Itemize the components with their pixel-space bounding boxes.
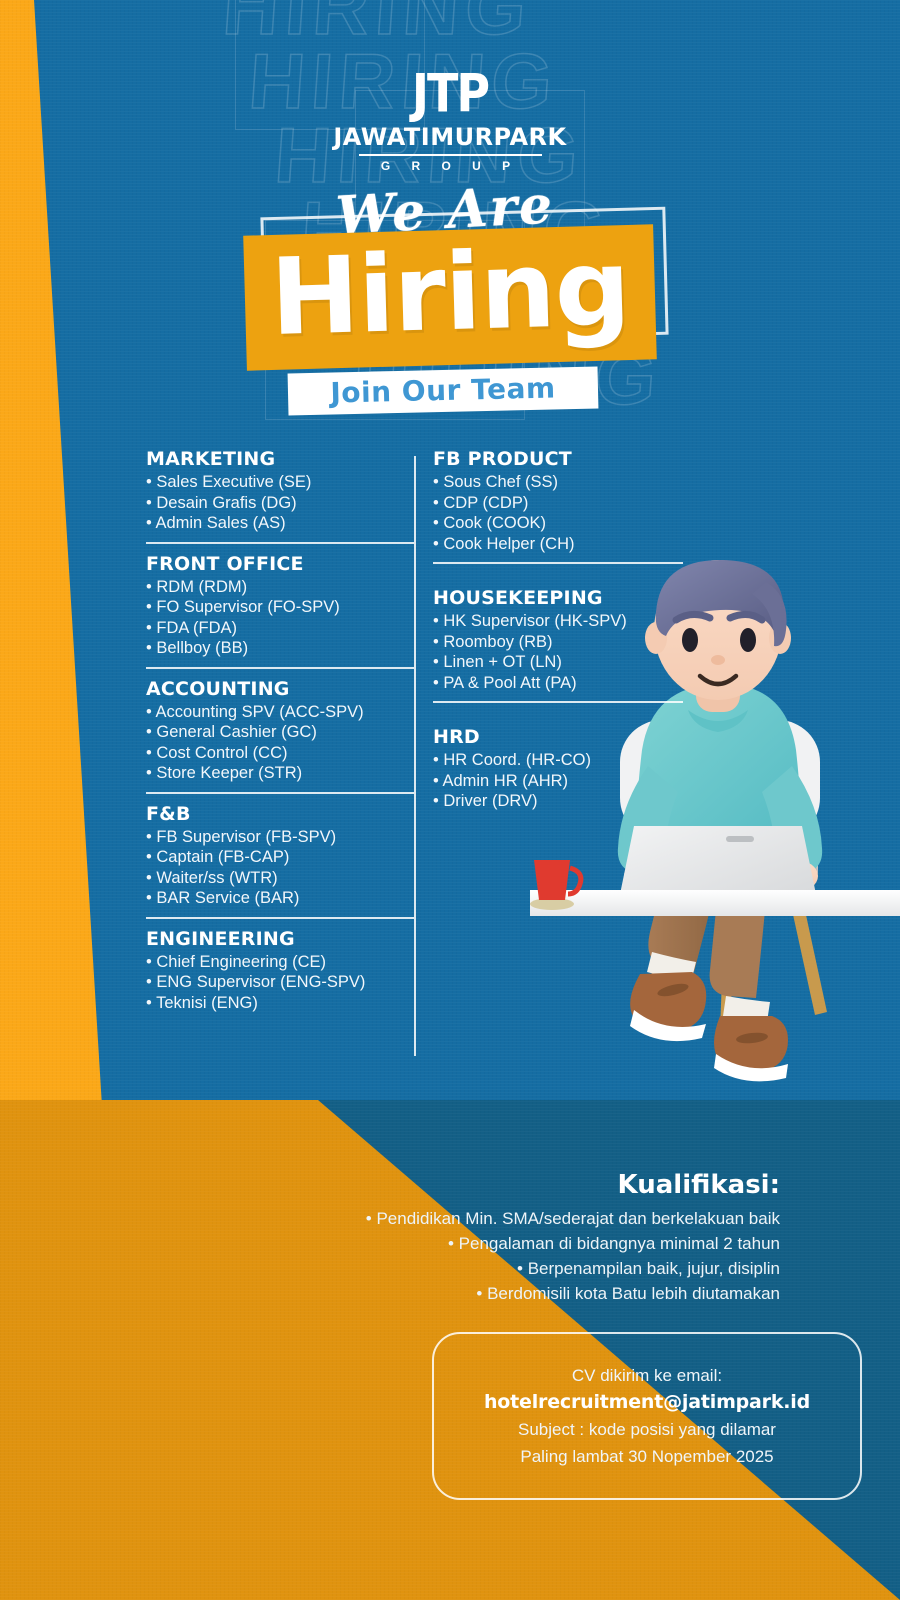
job-position: Roomboy (RB) (433, 632, 683, 653)
job-position: General Cashier (GC) (146, 722, 414, 743)
department-block: HRD HR Coord. (HR-CO) Admin HR (AHR) Dri… (433, 726, 683, 812)
department-title: ENGINEERING (146, 928, 414, 950)
department-title: HOUSEKEEPING (433, 587, 683, 609)
job-position: HK Supervisor (HK-SPV) (433, 611, 683, 632)
job-position: FO Supervisor (FO-SPV) (146, 597, 414, 618)
job-position: RDM (RDM) (146, 577, 414, 598)
qualification-item: Berdomisili kota Batu lebih diutamakan (260, 1281, 780, 1306)
department-title: F&B (146, 803, 414, 825)
job-position: ENG Supervisor (ENG-SPV) (146, 972, 414, 993)
department-block: HOUSEKEEPING HK Supervisor (HK-SPV) Room… (433, 587, 683, 693)
recruitment-poster: HIRING HIRING HIRING HIRING HIRING HIRIN… (0, 0, 900, 1600)
job-position: Linen + OT (LN) (433, 652, 683, 673)
hero-headline: Hiring (0, 215, 900, 370)
section-divider (433, 562, 683, 564)
job-position: Teknisi (ENG) (146, 993, 414, 1014)
qualification-item: Berpenampilan baik, jujur, disiplin (260, 1256, 780, 1281)
job-position: Cook (COOK) (433, 513, 683, 534)
department-block: F&B FB Supervisor (FB-SPV) Captain (FB-C… (146, 803, 414, 909)
jobs-column-right: FB PRODUCT Sous Chef (SS) CDP (CDP) Cook… (433, 448, 683, 818)
department-title: ACCOUNTING (146, 678, 414, 700)
job-position: Sales Executive (SE) (146, 472, 414, 493)
qualification-item: Pendidikan Min. SMA/sederajat dan berkel… (260, 1206, 780, 1231)
qualifications-title: Kualifikasi: (260, 1170, 780, 1200)
section-divider (146, 542, 414, 544)
job-position: Admin Sales (AS) (146, 513, 414, 534)
contact-deadline: Paling lambat 30 Nopember 2025 (520, 1443, 773, 1470)
section-divider (433, 701, 683, 703)
qualifications-section: Kualifikasi: Pendidikan Min. SMA/sederaj… (260, 1170, 780, 1306)
brand-logo: JTP JAWATIMURPARK G R O U P (0, 70, 900, 173)
job-position: Waiter/ss (WTR) (146, 868, 414, 889)
department-title: HRD (433, 726, 683, 748)
department-title: FB PRODUCT (433, 448, 683, 470)
job-position: Driver (DRV) (433, 791, 683, 812)
section-divider (146, 667, 414, 669)
logo-name: JAWATIMURPARK (0, 123, 900, 151)
section-divider (146, 792, 414, 794)
job-position: Chief Engineering (CE) (146, 952, 414, 973)
department-block: ACCOUNTING Accounting SPV (ACC-SPV) Gene… (146, 678, 414, 784)
logo-divider (359, 154, 542, 156)
job-position: Store Keeper (STR) (146, 763, 414, 784)
job-position: Cook Helper (CH) (433, 534, 683, 555)
logo-mark: JTP (412, 67, 488, 120)
job-position: BAR Service (BAR) (146, 888, 414, 909)
job-position: Bellboy (BB) (146, 638, 414, 659)
job-position: CDP (CDP) (433, 493, 683, 514)
job-position: Sous Chef (SS) (433, 472, 683, 493)
job-position: HR Coord. (HR-CO) (433, 750, 683, 771)
job-position: FB Supervisor (FB-SPV) (146, 827, 414, 848)
department-title: FRONT OFFICE (146, 553, 414, 575)
job-position: Desain Grafis (DG) (146, 493, 414, 514)
job-position: Cost Control (CC) (146, 743, 414, 764)
jobs-column-left: MARKETING Sales Executive (SE) Desain Gr… (146, 448, 414, 1019)
job-position: PA & Pool Att (PA) (433, 673, 683, 694)
job-position: Captain (FB-CAP) (146, 847, 414, 868)
section-divider (146, 917, 414, 919)
contact-email[interactable]: hotelrecruitment@jatimpark.id (484, 1389, 810, 1416)
job-position: Accounting SPV (ACC-SPV) (146, 702, 414, 723)
job-position: FDA (FDA) (146, 618, 414, 639)
column-divider (414, 456, 416, 1056)
department-block: ENGINEERING Chief Engineering (CE) ENG S… (146, 928, 414, 1014)
department-block: FRONT OFFICE RDM (RDM) FO Supervisor (FO… (146, 553, 414, 659)
department-block: FB PRODUCT Sous Chef (SS) CDP (CDP) Cook… (433, 448, 683, 554)
hero-subline: Join Our Team (288, 366, 599, 415)
qualification-item: Pengalaman di bidangnya minimal 2 tahun (260, 1231, 780, 1256)
department-block: MARKETING Sales Executive (SE) Desain Gr… (146, 448, 414, 534)
department-title: MARKETING (146, 448, 414, 470)
job-position: Admin HR (AHR) (433, 771, 683, 792)
hero-section: We Are Hiring Join Our Team (0, 180, 900, 241)
contact-subject-note: Subject : kode posisi yang dilamar (518, 1416, 776, 1443)
contact-intro: CV dikirim ke email: (572, 1362, 722, 1389)
contact-box: CV dikirim ke email: hotelrecruitment@ja… (432, 1332, 862, 1500)
